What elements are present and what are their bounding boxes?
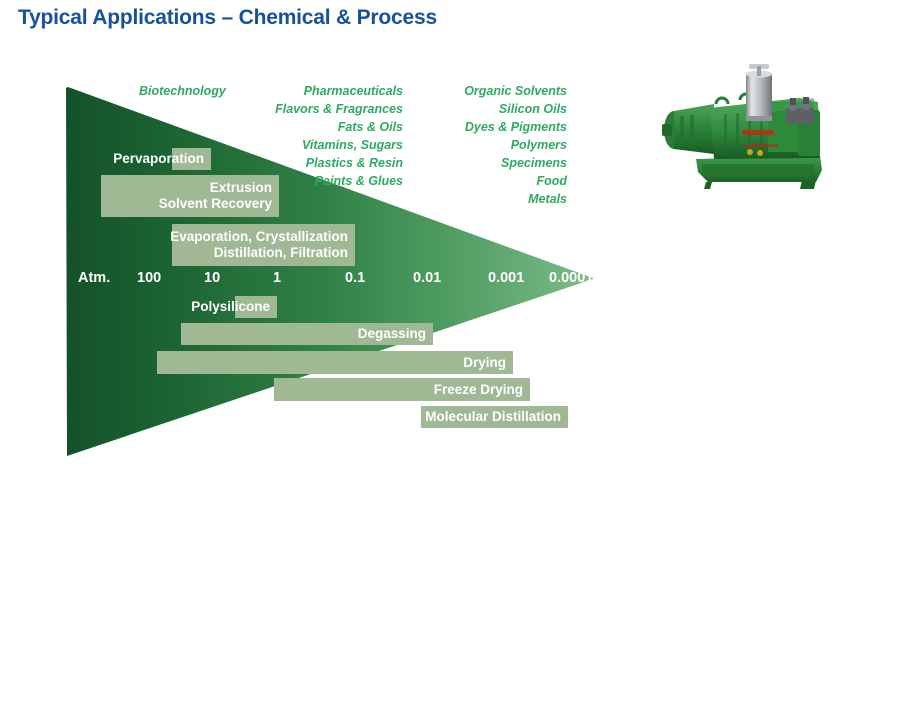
axis-tick-atm: Atm. (78, 270, 110, 286)
application-bar-pervaporation[interactable]: Pervaporation (172, 148, 211, 170)
group-right-column: Organic Solvents Silicon Oils Dyes & Pig… (406, 82, 567, 208)
group-item: Plastics & Resin (203, 154, 403, 172)
pressure-scale-axis: Atm.1001010.10.010.0010.0001 (66, 270, 596, 290)
application-bar-label: Drying (463, 355, 506, 371)
application-bar-label: Molecular Distillation (425, 409, 561, 425)
group-item: Metals (406, 190, 567, 208)
pump-base (696, 156, 822, 189)
group-item: Pharmaceuticals (203, 82, 403, 100)
group-item: Polymers (406, 136, 567, 154)
application-bar-freeze[interactable]: Freeze Drying (274, 378, 530, 401)
slide-canvas: Typical Applications – Chemical & Proces… (0, 0, 920, 706)
group-item: Specimens (406, 154, 567, 172)
group-item: Silicon Oils (406, 100, 567, 118)
application-bar-label: Degassing (358, 326, 426, 342)
exhaust-cylinder (746, 64, 772, 121)
vacuum-pump-image (650, 58, 840, 193)
application-bar-label: Pervaporation (113, 151, 204, 167)
vacuum-pump-illustration (650, 58, 840, 193)
application-bar-molecular[interactable]: Molecular Distillation (421, 406, 568, 428)
axis-tick-001: 0.01 (413, 270, 441, 286)
pump-motor (662, 104, 714, 154)
group-item: Flavors & Fragrances (203, 100, 403, 118)
application-bar-polysilicone[interactable]: Polysilicone (235, 296, 277, 318)
application-bar-label: ExtrusionSolvent Recovery (159, 180, 272, 212)
group-item: Food (406, 172, 567, 190)
group-item: Fats & Oils (203, 118, 403, 136)
group-item: Vitamins, Sugars (203, 136, 403, 154)
axis-tick-100: 100 (137, 270, 161, 286)
axis-tick-1: 1 (273, 270, 281, 286)
group-item: Dyes & Pigments (406, 118, 567, 136)
axis-tick-00001: 0.0001 (549, 270, 593, 286)
application-bar-evaporation[interactable]: Evaporation, CrystallizationDistillation… (172, 224, 355, 266)
group-item: Organic Solvents (406, 82, 567, 100)
axis-tick-01: 0.1 (345, 270, 365, 286)
application-bar-degassing[interactable]: Degassing (181, 323, 433, 345)
application-bar-extrusion[interactable]: ExtrusionSolvent Recovery (101, 175, 279, 217)
axis-tick-0001: 0.001 (488, 270, 524, 286)
axis-tick-10: 10 (204, 270, 220, 286)
group-middle-column: Pharmaceuticals Flavors & Fragrances Fat… (203, 82, 403, 190)
application-bar-label: Polysilicone (191, 299, 270, 315)
application-bar-label: Evaporation, CrystallizationDistillation… (170, 229, 348, 261)
application-bar-label: Freeze Drying (434, 382, 523, 398)
application-bar-drying[interactable]: Drying (157, 351, 513, 374)
